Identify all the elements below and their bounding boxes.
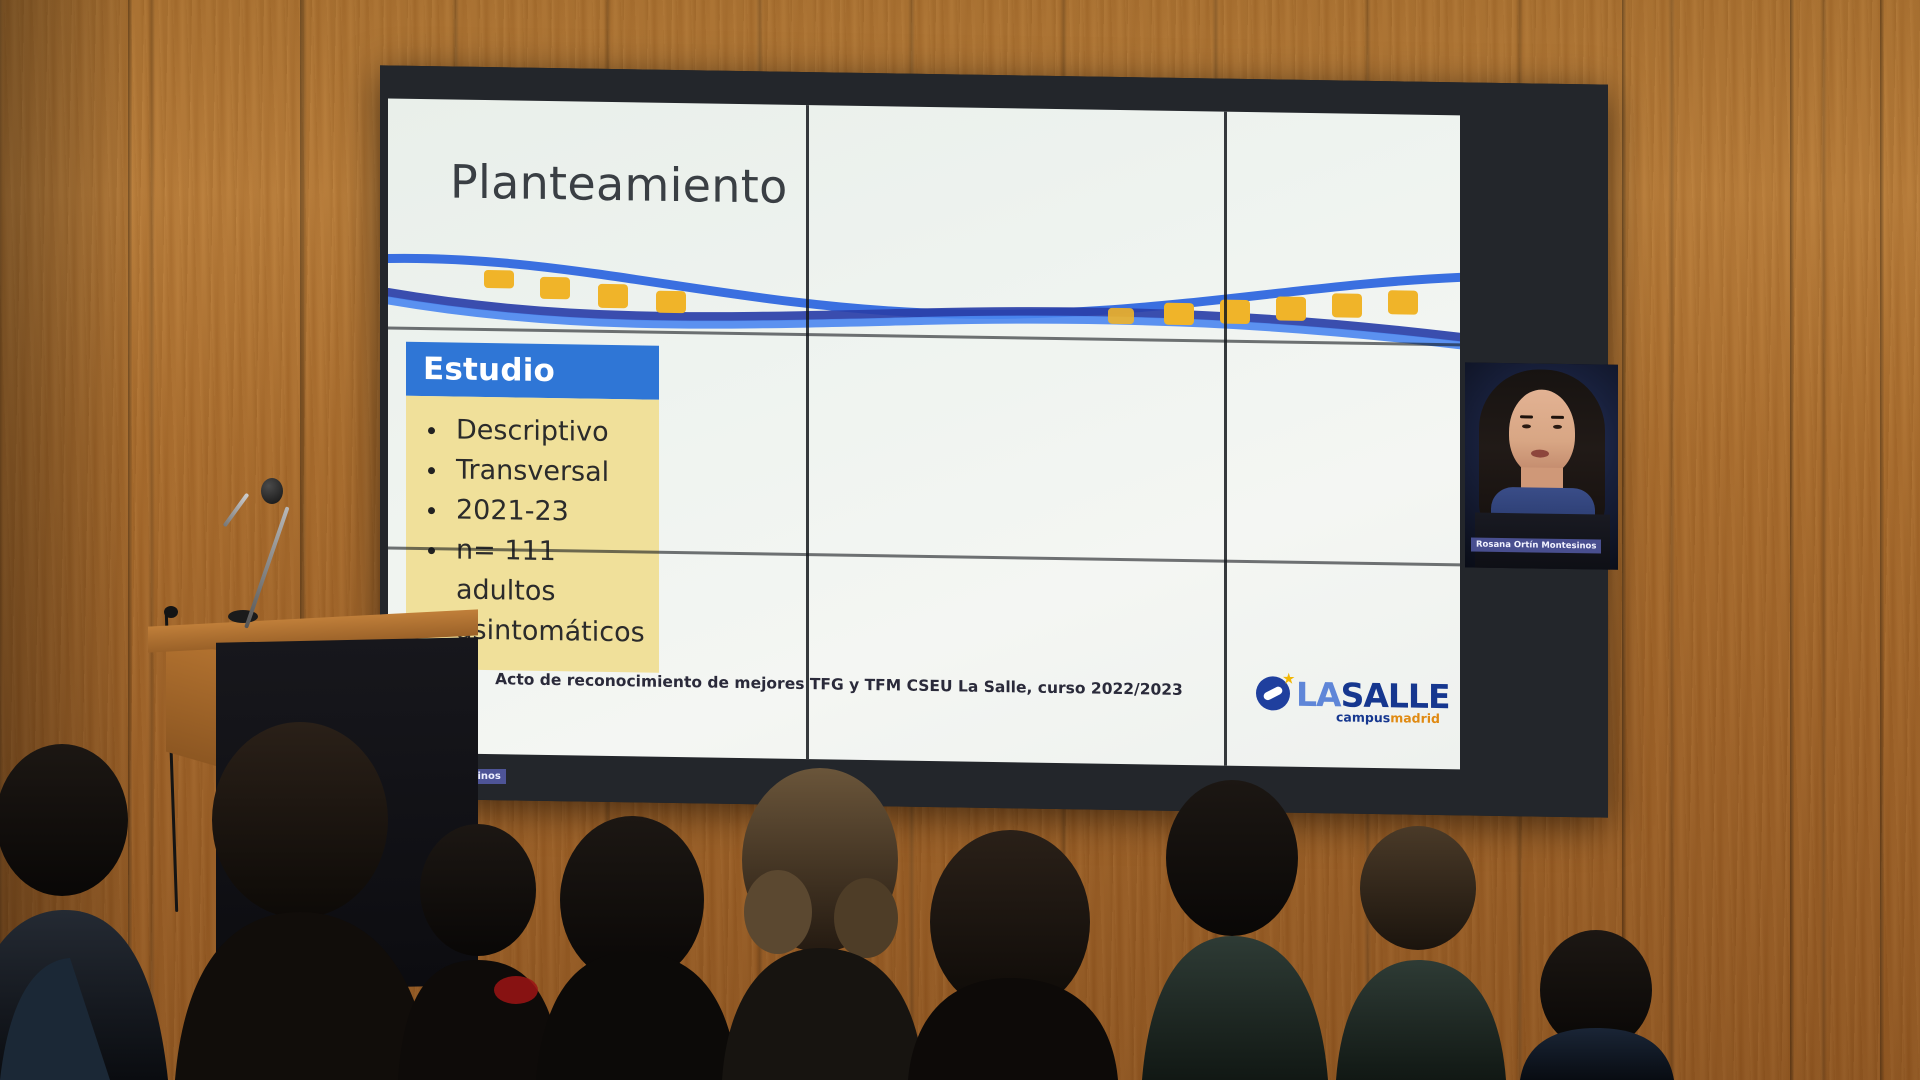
- list-item: Transversal: [406, 450, 659, 494]
- participant-eyebrow: [1551, 416, 1564, 419]
- auditorium-scene: Planteamiento: [0, 0, 1920, 1080]
- participant-eye: [1522, 424, 1531, 428]
- dna-helix-icon: [388, 246, 1460, 355]
- slide-title: Planteamiento: [450, 154, 788, 213]
- list-item: 2021-23: [406, 490, 659, 534]
- participant-name-label: Rosana Ortín Montesinos: [1471, 537, 1601, 553]
- estudio-box-header: Estudio: [406, 342, 659, 400]
- participant-eye: [1553, 425, 1562, 429]
- microphone-base-knob: [164, 606, 178, 618]
- video-conference-participant-tile[interactable]: Rosana Ortín Montesinos: [1465, 362, 1618, 569]
- participant-eyebrow: [1520, 415, 1533, 418]
- microphone-head-icon: [261, 478, 283, 504]
- participant-face: [1509, 389, 1575, 476]
- estudio-header-label: Estudio: [406, 351, 555, 389]
- participant-mouth: [1531, 449, 1549, 457]
- list-item-continuation: adultos: [406, 570, 659, 614]
- list-item: Descriptivo: [406, 410, 659, 454]
- audience-silhouettes: [0, 660, 1920, 1080]
